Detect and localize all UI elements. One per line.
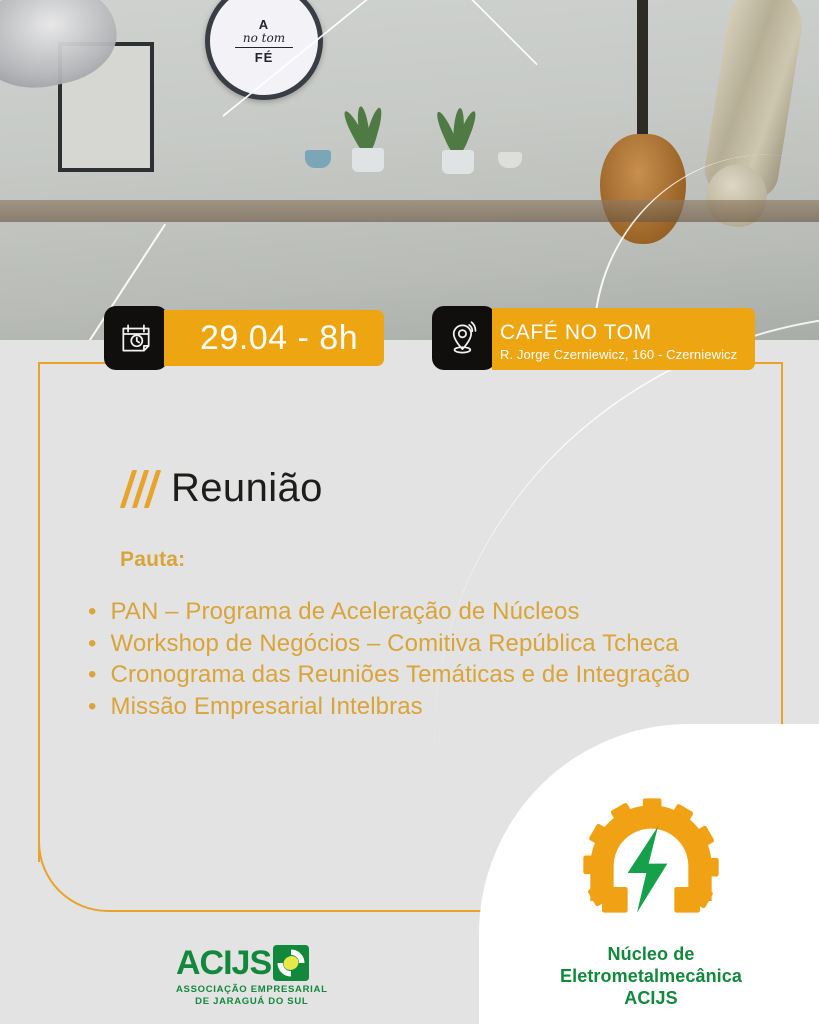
agenda-item-text: Cronograma das Reuniões Temáticas e de I… (111, 659, 690, 691)
triple-slash-icon (126, 470, 155, 508)
nucleo-line3: ACIJS (501, 988, 801, 1010)
venue-name: CAFÉ NO TOM (500, 322, 737, 344)
nucleo-line2: Eletrometalmecânica (501, 966, 801, 988)
page-title: Reunião (171, 466, 323, 511)
agenda-item-text: Workshop de Negócios – Comitiva Repúblic… (111, 628, 679, 660)
event-photo: A no tom FÉ (0, 0, 819, 340)
nucleo-logo: Núcleo de Eletrometalmecânica ACIJS (501, 796, 801, 1010)
frame-line-left (38, 362, 40, 862)
calendar-clock-icon (104, 306, 168, 370)
poster-canvas: A no tom FÉ (0, 0, 819, 1024)
venue-address: R. Jorge Czerniewicz, 160 - Czerniewicz (500, 347, 737, 362)
cafe-sign-line2: no tom (243, 31, 285, 45)
frame-line-right (781, 362, 783, 770)
acijs-tagline-line2: DE JARAGUÁ DO SUL (176, 996, 328, 1008)
nucleo-line1: Núcleo de (501, 944, 801, 966)
cafe-sign-line3: FÉ (255, 50, 274, 65)
bullet-icon: • (88, 659, 97, 691)
acijs-wordmark: ACIJS (176, 946, 271, 980)
acijs-symbol-icon (273, 945, 309, 981)
frame-corner-bottom-left (38, 840, 110, 912)
gear-lightning-icon (501, 796, 801, 936)
agenda-label: Pauta: (120, 548, 185, 572)
event-date-text: 29.04 - 8h (200, 319, 358, 358)
location-pin-icon (432, 306, 496, 370)
bullet-icon: • (88, 596, 97, 628)
list-item: • Cronograma das Reuniões Temáticas e de… (88, 659, 690, 691)
bullet-icon: • (88, 691, 97, 723)
agenda-list: • PAN – Programa de Aceleração de Núcleo… (88, 596, 690, 723)
list-item: • PAN – Programa de Aceleração de Núcleo… (88, 596, 690, 628)
cafe-sign-line1: A (259, 17, 269, 32)
bullet-icon: • (88, 628, 97, 660)
event-info-bar: 29.04 - 8h CAFÉ NO TOM R. Jorge Czerniew… (0, 306, 819, 374)
event-venue-chip: CAFÉ NO TOM R. Jorge Czerniewicz, 160 - … (492, 308, 755, 370)
acijs-logo: ACIJS ASSOCIAÇÃO EMPRESARIAL DE JARAGUÁ … (176, 945, 328, 1008)
event-date-chip: 29.04 - 8h (164, 310, 384, 366)
list-item: • Workshop de Negócios – Comitiva Repúbl… (88, 628, 690, 660)
agenda-item-text: PAN – Programa de Aceleração de Núcleos (111, 596, 580, 628)
agenda-item-text: Missão Empresarial Intelbras (111, 691, 423, 723)
page-title-row: Reunião (126, 466, 323, 511)
acijs-tagline-line1: ASSOCIAÇÃO EMPRESARIAL (176, 984, 328, 996)
list-item: • Missão Empresarial Intelbras (88, 691, 690, 723)
group-photo-people (0, 90, 819, 340)
